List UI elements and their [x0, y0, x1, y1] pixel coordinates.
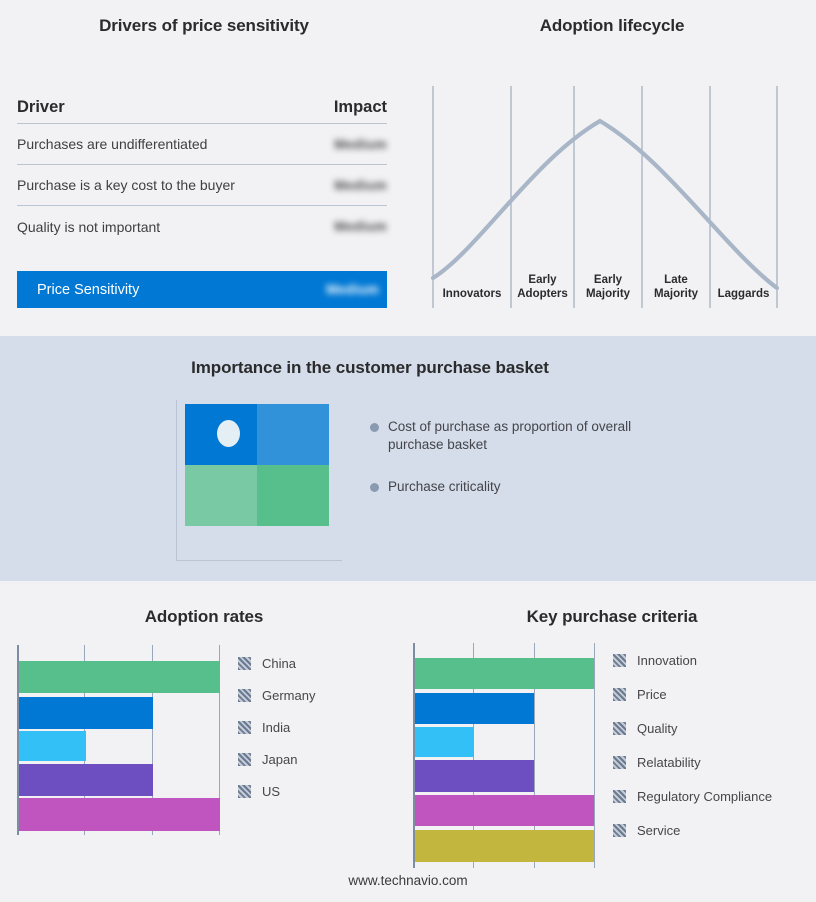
legend-label: US: [262, 784, 280, 799]
lifecycle-stage-label: Majority: [642, 288, 710, 302]
driver-label: Purchase is a key cost to the buyer: [17, 177, 235, 193]
basket-horizontal-axis: [176, 560, 342, 561]
adoption-lifecycle-panel: Adoption lifecycle Innovators Early Adop…: [408, 0, 816, 336]
list-item: Germany: [238, 679, 315, 711]
list-item: Relatability: [613, 745, 772, 779]
highlight-impact-value-obscured: Medium: [326, 282, 379, 297]
legend-swatch-icon: [613, 756, 626, 769]
legend-label: Service: [637, 823, 680, 838]
column-header-driver: Driver: [17, 98, 65, 117]
lifecycle-stage-label: Late: [642, 274, 710, 288]
lifecycle-stage-label: Adopters: [511, 288, 574, 302]
basket-vertical-axis: [176, 400, 177, 560]
bullet-dot-icon: [370, 483, 379, 492]
lifecycle-stage-early-majority: Early Majority: [574, 274, 642, 301]
impact-value-obscured: Medium: [334, 219, 387, 234]
table-row: Purchase is a key cost to the buyer Medi…: [17, 165, 387, 206]
legend-label: Innovation: [637, 653, 697, 668]
legend-label: Price: [637, 687, 667, 702]
driver-label: Purchases are undifferentiated: [17, 136, 207, 152]
list-item: China: [238, 647, 315, 679]
list-item: Japan: [238, 743, 315, 775]
lifecycle-stage-label: Early: [511, 274, 574, 288]
legend-label: India: [262, 720, 290, 735]
quadrant-top-left: [185, 404, 257, 465]
purchase-basket-title: Importance in the customer purchase bask…: [0, 358, 740, 378]
quadrant-chart: [185, 404, 329, 526]
bullet-dot-icon: [370, 423, 379, 432]
legend-swatch-icon: [613, 824, 626, 837]
driver-label: Quality is not important: [17, 219, 160, 235]
list-item: Price: [613, 677, 772, 711]
drivers-table: Driver Impact Purchases are undifferenti…: [17, 92, 387, 247]
legend-swatch-icon: [613, 722, 626, 735]
lifecycle-stage-late-majority: Late Majority: [642, 274, 710, 301]
bar-relatability: [415, 760, 534, 792]
basket-legend-label: Cost of purchase as proportion of overal…: [388, 418, 643, 454]
gridline: [594, 643, 595, 868]
bar-japan: [19, 764, 153, 796]
impact-value-obscured: Medium: [334, 178, 387, 193]
lifecycle-stage-early-adopters: Early Adopters: [511, 274, 574, 301]
legend-label: Japan: [262, 752, 297, 767]
legend-label: China: [262, 656, 296, 671]
key-purchase-criteria-plot: [413, 643, 596, 868]
list-item: Innovation: [613, 643, 772, 677]
list-item: India: [238, 711, 315, 743]
legend-swatch-icon: [238, 657, 251, 670]
adoption-rates-legend: China Germany India Japan US: [238, 647, 315, 807]
quadrant-top-right: [257, 404, 329, 465]
legend-swatch-icon: [238, 721, 251, 734]
bar-us: [19, 798, 220, 831]
drivers-panel: Drivers of price sensitivity Driver Impa…: [0, 0, 408, 336]
list-item: Service: [613, 813, 772, 847]
price-sensitivity-highlight-row: Price Sensitivity Medium: [17, 271, 387, 308]
legend-swatch-icon: [613, 654, 626, 667]
adoption-rates-title: Adoption rates: [0, 607, 408, 627]
legend-swatch-icon: [613, 790, 626, 803]
bar-regulatory-compliance: [415, 795, 594, 826]
bar-quality: [415, 727, 474, 757]
legend-label: Regulatory Compliance: [637, 789, 772, 804]
lifecycle-stage-label: Majority: [574, 288, 642, 302]
key-purchase-criteria-panel: Key purchase criteria Innovation Price Q…: [408, 581, 816, 902]
footer-url: www.technavio.com: [0, 873, 816, 888]
highlight-driver-label: Price Sensitivity: [37, 282, 139, 298]
lifecycle-stage-label: Early: [574, 274, 642, 288]
legend-label: Germany: [262, 688, 315, 703]
list-item: Regulatory Compliance: [613, 779, 772, 813]
bar-innovation: [415, 658, 594, 689]
legend-swatch-icon: [613, 688, 626, 701]
key-purchase-criteria-legend: Innovation Price Quality Relatability Re…: [613, 643, 772, 847]
list-item: Quality: [613, 711, 772, 745]
impact-value-obscured: Medium: [334, 137, 387, 152]
list-item: US: [238, 775, 315, 807]
adoption-rates-plot: [17, 645, 220, 835]
bar-service: [415, 830, 594, 862]
bar-price: [415, 693, 534, 724]
adoption-rates-panel: Adoption rates China Germany India Japan: [0, 581, 408, 902]
basket-legend-label: Purchase criticality: [388, 478, 501, 496]
quadrant-bottom-right: [257, 465, 329, 526]
table-row: Quality is not important Medium: [17, 206, 387, 247]
basket-legend: Cost of purchase as proportion of overal…: [370, 418, 670, 520]
bar-china: [19, 661, 220, 693]
legend-swatch-icon: [238, 785, 251, 798]
legend-swatch-icon: [238, 753, 251, 766]
bar-india: [19, 731, 86, 761]
list-item: Purchase criticality: [370, 478, 670, 496]
quadrant-marker-dot: [217, 420, 240, 447]
bar-germany: [19, 697, 153, 729]
quadrant-bottom-left: [185, 465, 257, 526]
key-purchase-criteria-title: Key purchase criteria: [408, 607, 816, 627]
bell-curve-path: [433, 121, 777, 288]
lifecycle-stage-innovators: Innovators: [433, 288, 511, 302]
list-item: Cost of purchase as proportion of overal…: [370, 418, 670, 454]
column-header-impact: Impact: [334, 98, 387, 117]
table-header-row: Driver Impact: [17, 92, 387, 124]
table-row: Purchases are undifferentiated Medium: [17, 124, 387, 165]
legend-label: Quality: [637, 721, 677, 736]
legend-swatch-icon: [238, 689, 251, 702]
lifecycle-stage-label: Innovators: [433, 288, 511, 302]
drivers-title: Drivers of price sensitivity: [0, 16, 408, 36]
lifecycle-stage-laggards: Laggards: [710, 288, 777, 302]
lifecycle-stage-label: Laggards: [710, 288, 777, 302]
legend-label: Relatability: [637, 755, 701, 770]
